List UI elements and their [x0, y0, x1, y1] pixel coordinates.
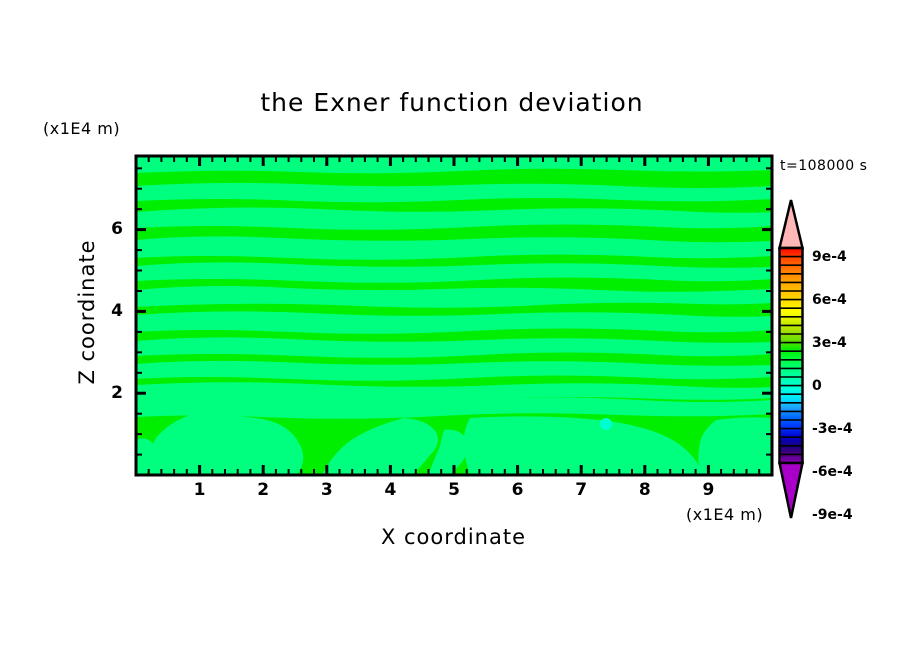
- contour-speck: [600, 418, 612, 430]
- x-tick-label: 2: [248, 480, 278, 500]
- colorbar-tick-label: 0: [812, 378, 822, 394]
- x-tick-label: 9: [693, 480, 723, 500]
- figure-canvas: the Exner function deviation (x1E4 m) (x…: [0, 0, 904, 654]
- contour-field: [136, 156, 772, 475]
- colorbar-under-arrow: [780, 463, 803, 518]
- x-tick-label: 8: [630, 480, 660, 500]
- x-tick-label: 6: [503, 480, 533, 500]
- x-tick-label: 1: [185, 480, 215, 500]
- colorbar-tick-label: 9e-4: [812, 249, 847, 265]
- colorbar-tick-label: 6e-4: [812, 292, 847, 308]
- x-tick-label: 7: [566, 480, 596, 500]
- y-tick-label: 2: [106, 383, 128, 403]
- colorbar-tick-label: -9e-4: [812, 507, 853, 523]
- colorbar-tick-label: -3e-4: [812, 421, 853, 437]
- x-tick-label: 3: [312, 480, 342, 500]
- colorbar-over-arrow: [780, 200, 803, 248]
- colorbar-gradient: [780, 248, 803, 463]
- y-tick-label: 6: [106, 219, 128, 239]
- y-tick-label: 4: [106, 301, 128, 321]
- colorbar[interactable]: [780, 200, 803, 518]
- colorbar-tick-label: 3e-4: [812, 335, 847, 351]
- contour-plot-svg: [0, 0, 904, 654]
- colorbar-tick-label: -6e-4: [812, 464, 853, 480]
- x-tick-label: 5: [439, 480, 469, 500]
- x-tick-label: 4: [375, 480, 405, 500]
